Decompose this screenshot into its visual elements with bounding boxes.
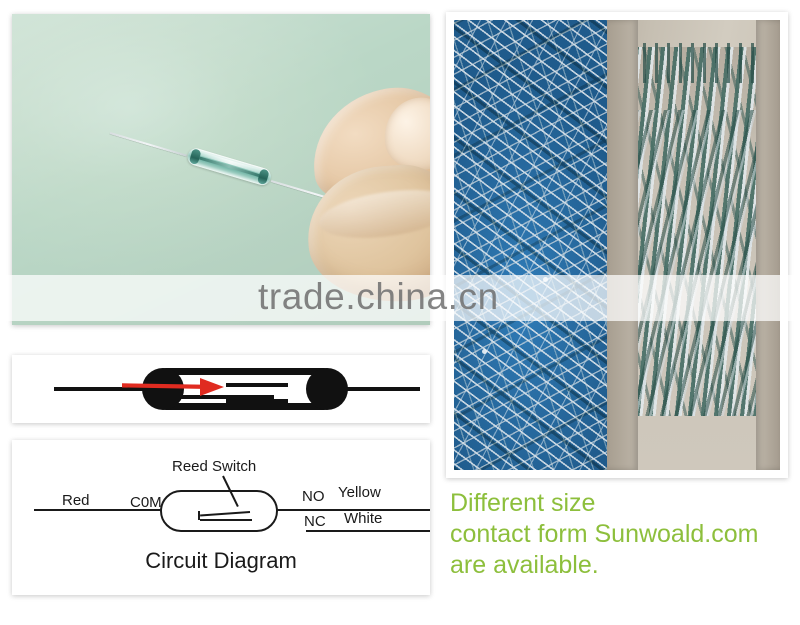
- label-white: White: [344, 510, 382, 527]
- arrow-shaft: [122, 382, 208, 389]
- carton-wall-left: [607, 20, 638, 470]
- caption-line-2: contact form Sunwoald.com: [450, 519, 800, 550]
- symbol-lead-right: [342, 387, 420, 391]
- circuit-reed-blade-lower: [200, 519, 252, 521]
- symbol-end-cap-right: [306, 368, 348, 410]
- circuit-reed-blade-joint: [198, 511, 200, 520]
- product-image-collage: trade.china.cn Reed Switch Red C0M NO Ye…: [0, 0, 800, 625]
- label-yellow: Yellow: [338, 484, 381, 501]
- circuit-diagram-panel: Reed Switch Red C0M NO Yellow NC White C…: [12, 440, 430, 595]
- bulk-reed-switches-photo: [446, 12, 788, 478]
- label-red: Red: [62, 492, 90, 509]
- carton-switch-fill-secondary: [635, 110, 759, 416]
- symbol-contact-lower: [226, 399, 288, 403]
- capsule-seal-left: [189, 148, 202, 165]
- magnetic-field-arrow-icon: [122, 377, 234, 393]
- carton-wall-right: [756, 20, 780, 470]
- reed-switch-symbol-panel: [12, 355, 430, 423]
- label-reed-switch: Reed Switch: [172, 458, 256, 475]
- caption-line-3: are available.: [450, 550, 800, 581]
- loose-switches-on-blue-tray: [454, 20, 607, 470]
- label-nc: NC: [304, 513, 326, 530]
- circuit-nc-line: [306, 530, 430, 532]
- label-no: NO: [302, 488, 325, 505]
- symbol-contact-upper: [226, 383, 288, 387]
- switches-packed-in-carton: [607, 20, 780, 470]
- caption-line-1: Different size: [450, 488, 800, 519]
- label-com: C0M: [130, 494, 162, 511]
- tray-dot: [482, 349, 487, 354]
- reed-switch-held-in-fingers-photo: [12, 14, 430, 325]
- arrow-head: [200, 378, 224, 396]
- tray-dot: [543, 277, 548, 282]
- bulk-photo-inner: [454, 20, 780, 470]
- carton-top-switch-row: [631, 43, 762, 84]
- promo-caption: Different size contact form Sunwoald.com…: [450, 488, 800, 581]
- circuit-diagram-title: Circuit Diagram: [12, 548, 430, 574]
- circuit-reed-capsule: [160, 490, 278, 532]
